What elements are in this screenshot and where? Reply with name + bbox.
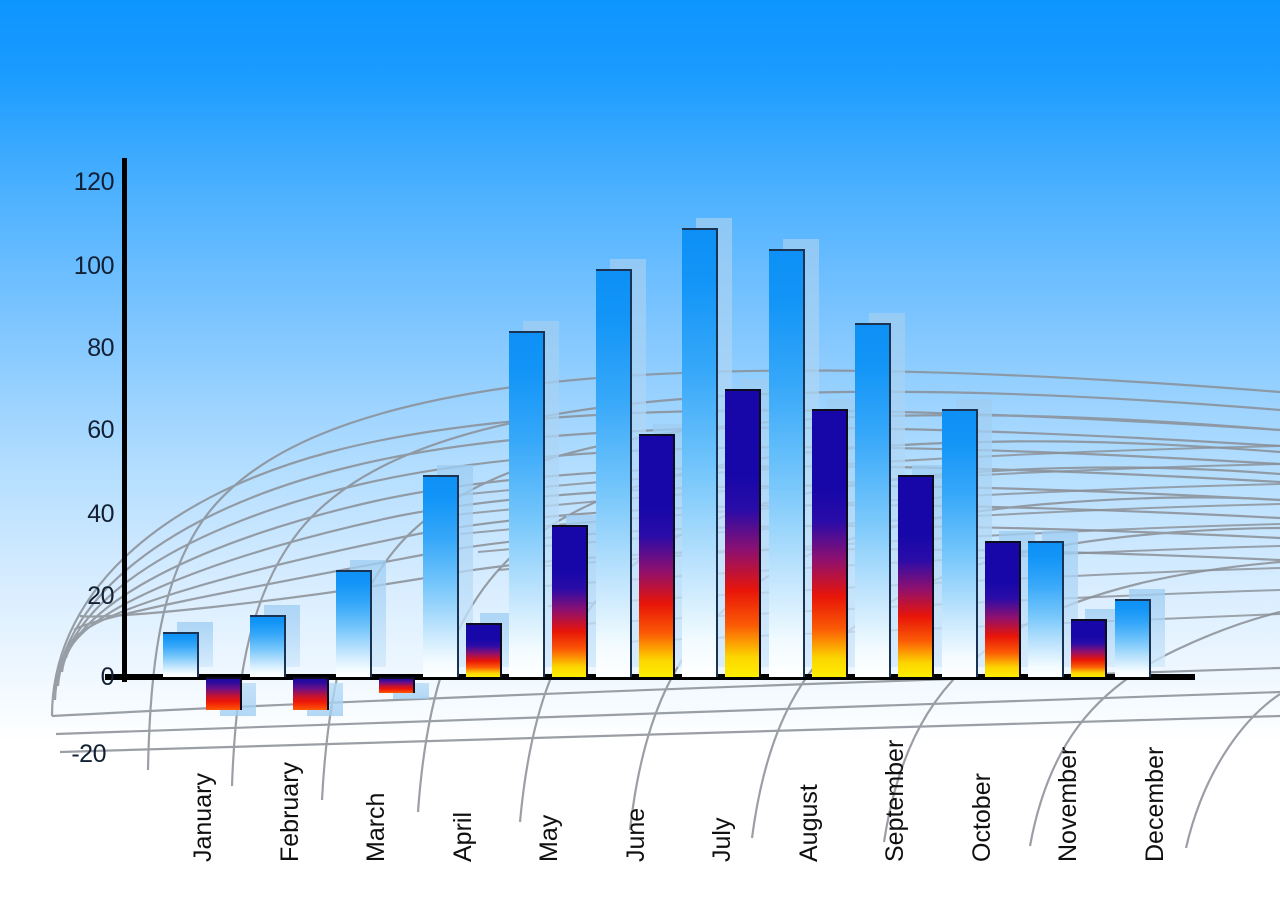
bar-january-series-1[interactable] xyxy=(163,632,199,677)
bar-september-series-1[interactable] xyxy=(855,323,891,677)
category-label-december: December xyxy=(1141,747,1170,862)
bar-february-series-2[interactable] xyxy=(293,677,329,710)
bar-march-series-2[interactable] xyxy=(379,677,415,693)
bar-december-series-1[interactable] xyxy=(1115,599,1151,677)
y-tick-0: 0 xyxy=(58,663,114,692)
bar-march-series-1[interactable] xyxy=(336,570,372,677)
bar-august-series-1[interactable] xyxy=(769,249,805,677)
category-label-may: May xyxy=(535,815,564,862)
bar-july-series-1[interactable] xyxy=(682,228,718,677)
plot-area: 120 100 80 60 40 20 0 -20 JanuaryFebruar… xyxy=(0,0,1280,905)
y-tick-60: 60 xyxy=(58,416,114,445)
category-label-july: July xyxy=(708,818,737,862)
y-tick-neg20: -20 xyxy=(50,740,106,769)
y-tick-100: 100 xyxy=(58,252,114,281)
category-label-october: October xyxy=(968,773,997,862)
bar-october-series-2[interactable] xyxy=(985,541,1021,677)
y-tick-80: 80 xyxy=(58,334,114,363)
bar-july-series-2[interactable] xyxy=(725,389,761,677)
bar-november-series-2[interactable] xyxy=(1071,619,1107,677)
category-label-march: March xyxy=(362,793,391,862)
bar-november-series-1[interactable] xyxy=(1028,541,1064,677)
category-label-september: September xyxy=(881,740,910,862)
bar-august-series-2[interactable] xyxy=(812,409,848,677)
category-label-june: June xyxy=(622,808,651,862)
category-label-january: January xyxy=(189,773,218,862)
category-label-april: April xyxy=(449,812,478,862)
bar-september-series-2[interactable] xyxy=(898,475,934,677)
bar-october-series-1[interactable] xyxy=(942,409,978,677)
bar-february-series-1[interactable] xyxy=(250,615,286,677)
bar-june-series-2[interactable] xyxy=(639,434,675,677)
chart-canvas: 120 100 80 60 40 20 0 -20 JanuaryFebruar… xyxy=(0,0,1280,905)
category-label-august: August xyxy=(795,784,824,862)
y-axis-line xyxy=(122,158,127,682)
y-tick-40: 40 xyxy=(58,500,114,529)
bar-june-series-1[interactable] xyxy=(596,269,632,677)
bar-april-series-1[interactable] xyxy=(423,475,459,677)
bar-april-series-2[interactable] xyxy=(466,623,502,677)
bar-may-series-1[interactable] xyxy=(509,331,545,677)
bar-january-series-2[interactable] xyxy=(206,677,242,710)
category-label-november: November xyxy=(1054,747,1083,862)
category-label-february: February xyxy=(276,762,305,862)
y-tick-120: 120 xyxy=(58,168,114,197)
y-tick-20: 20 xyxy=(58,582,114,611)
bar-may-series-2[interactable] xyxy=(552,525,588,677)
